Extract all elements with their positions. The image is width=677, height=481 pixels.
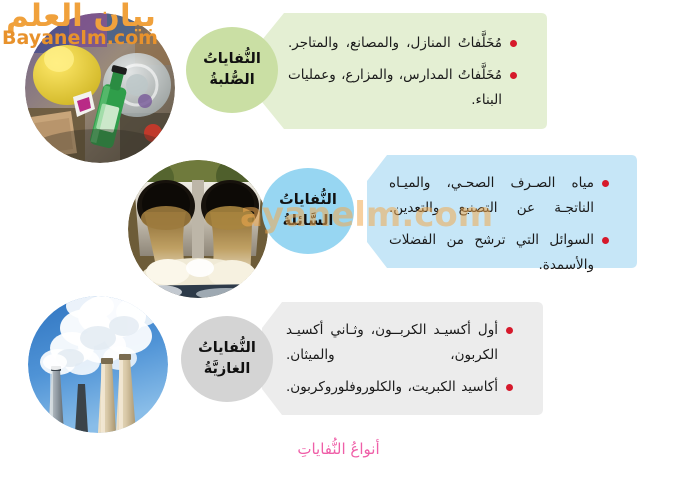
gaseous-waste-list: أول أكسيـد الكربــون، وثـاني أكسيـد الكر…	[286, 318, 513, 400]
list-item-text: أول أكسيـد الكربــون، وثـاني أكسيـد الكر…	[286, 322, 498, 363]
bullet-dot-icon	[602, 180, 609, 187]
liquid-waste-photo	[128, 160, 268, 298]
list-item: أول أكسيـد الكربــون، وثـاني أكسيـد الكر…	[286, 318, 513, 368]
liquid-waste-label-line1: النُّفاياتُ	[279, 190, 337, 211]
liquid-waste-label: النُّفاياتُ السَّائلةُ	[262, 168, 354, 254]
gaseous-waste-label-line2: الغازيَّةُ	[204, 359, 251, 380]
bullet-dot-icon	[510, 72, 517, 79]
list-item-text: مياه الصـرف الصحـي، والميـاه الناتجـة عن…	[389, 175, 594, 216]
liquid-waste-callout: مياه الصـرف الصحـي، والميـاه الناتجـة عن…	[367, 155, 637, 268]
list-item: مياه الصـرف الصحـي، والميـاه الناتجـة عن…	[389, 171, 609, 221]
solid-waste-label-line1: النُّفاياتُ	[203, 49, 261, 70]
solid-waste-label-line2: الصُّلبةُ	[209, 70, 254, 91]
solid-waste-label: النُّفاياتُ الصُّلبةُ	[186, 27, 278, 113]
gaseous-waste-callout: أول أكسيـد الكربــون، وثـاني أكسيـد الكر…	[262, 302, 543, 415]
gaseous-waste-label: النُّفاياتُ الغازيَّةُ	[181, 316, 273, 402]
list-item-text: مُخَلَّفاتُ المنازل، والمصانع، والمتاجر.	[288, 35, 502, 51]
solid-waste-list: مُخَلَّفاتُ المنازل، والمصانع، والمتاجر.…	[288, 31, 517, 113]
solid-waste-photo	[25, 13, 175, 163]
liquid-waste-label-line2: السَّائلةُ	[283, 211, 334, 232]
waste-types-infographic: مُخَلَّفاتُ المنازل، والمصانع، والمتاجر.…	[0, 0, 677, 481]
bullet-dot-icon	[506, 384, 513, 391]
bullet-dot-icon	[510, 40, 517, 47]
gaseous-waste-label-line1: النُّفاياتُ	[198, 338, 256, 359]
list-item: أكاسيد الكبريت، والكلوروفلوروكربون.	[286, 375, 513, 400]
bullet-dot-icon	[602, 237, 609, 244]
list-item: السوائل التي ترشح من الفضلات والأسمدة.	[389, 228, 609, 278]
list-item: مُخَلَّفاتُ المنازل، والمصانع، والمتاجر.	[288, 31, 517, 56]
bullet-dot-icon	[506, 327, 513, 334]
gaseous-waste-photo	[28, 296, 168, 433]
list-item-text: السوائل التي ترشح من الفضلات والأسمدة.	[389, 232, 594, 273]
liquid-waste-list: مياه الصـرف الصحـي، والميـاه الناتجـة عن…	[389, 171, 609, 278]
list-item: مُخَلَّفاتُ المدارس، والمزارع، وعمليات ا…	[288, 63, 517, 113]
list-item-text: أكاسيد الكبريت، والكلوروفلوروكربون.	[286, 379, 498, 395]
figure-caption: أنواعُ النُّفاياتِ	[0, 440, 677, 458]
solid-waste-callout: مُخَلَّفاتُ المنازل، والمصانع، والمتاجر.…	[262, 13, 547, 129]
list-item-text: مُخَلَّفاتُ المدارس، والمزارع، وعمليات ا…	[288, 67, 502, 108]
